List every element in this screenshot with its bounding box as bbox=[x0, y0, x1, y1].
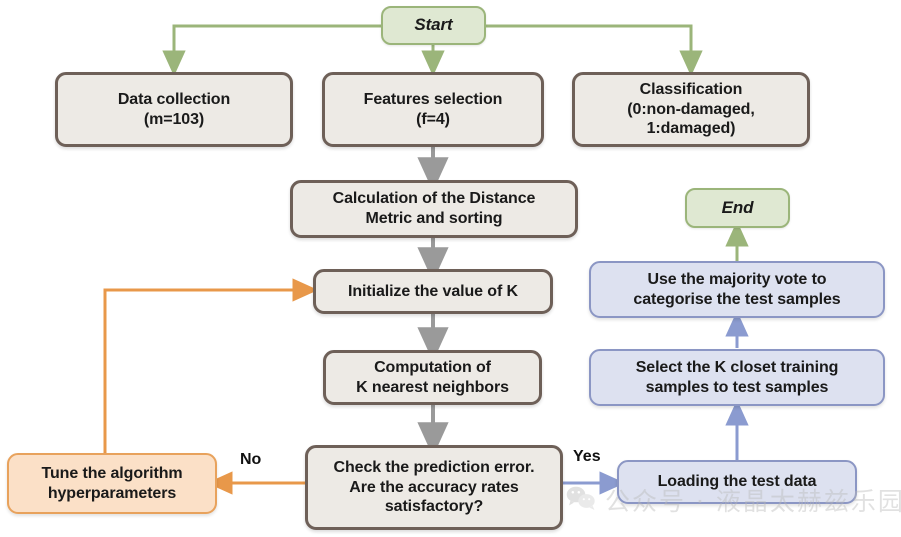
node-start[interactable]: Start bbox=[381, 6, 486, 45]
node-tune-hyperparameters[interactable]: Tune the algorithm hyperparameters bbox=[7, 453, 217, 514]
edge-label-yes: Yes bbox=[573, 448, 601, 466]
node-majority-vote-label: Use the majority vote to categorise the … bbox=[591, 270, 883, 309]
node-loading-test-data-label: Loading the test data bbox=[619, 472, 855, 492]
node-initialize-k[interactable]: Initialize the value of K bbox=[313, 269, 553, 314]
edge-label-no: No bbox=[240, 451, 261, 469]
node-computation-knn[interactable]: Computation of K nearest neighbors bbox=[323, 350, 542, 405]
node-majority-vote[interactable]: Use the majority vote to categorise the … bbox=[589, 261, 885, 318]
wechat-icon bbox=[566, 485, 596, 516]
node-data-collection[interactable]: Data collection (m=103) bbox=[55, 72, 293, 147]
edge-tune-to-initialize-k bbox=[105, 290, 308, 453]
node-start-label: Start bbox=[383, 15, 484, 36]
node-computation-knn-label: Computation of K nearest neighbors bbox=[326, 358, 539, 397]
edge-start-to-classification bbox=[486, 26, 691, 66]
node-classification-label: Classification (0:non-damaged, 1:damaged… bbox=[575, 80, 807, 139]
edge-start-to-data-collection bbox=[174, 26, 381, 66]
node-end-label: End bbox=[687, 198, 788, 219]
flowchart-canvas: Tune hyperparameters --> Loading the tes… bbox=[0, 0, 901, 537]
node-loading-test-data[interactable]: Loading the test data bbox=[617, 460, 857, 504]
node-distance-metric[interactable]: Calculation of the Distance Metric and s… bbox=[290, 180, 578, 238]
node-select-k-closest[interactable]: Select the K closet training samples to … bbox=[589, 349, 885, 406]
node-end[interactable]: End bbox=[685, 188, 790, 228]
node-features-selection[interactable]: Features selection (f=4) bbox=[322, 72, 544, 147]
node-distance-metric-label: Calculation of the Distance Metric and s… bbox=[293, 189, 575, 228]
node-classification[interactable]: Classification (0:non-damaged, 1:damaged… bbox=[572, 72, 810, 147]
node-features-selection-label: Features selection (f=4) bbox=[325, 90, 541, 129]
node-check-prediction[interactable]: Check the prediction error. Are the accu… bbox=[305, 445, 563, 530]
node-select-k-closest-label: Select the K closet training samples to … bbox=[591, 358, 883, 397]
node-check-prediction-label: Check the prediction error. Are the accu… bbox=[308, 458, 560, 517]
node-tune-hyperparameters-label: Tune the algorithm hyperparameters bbox=[9, 464, 215, 503]
node-data-collection-label: Data collection (m=103) bbox=[58, 90, 290, 129]
node-initialize-k-label: Initialize the value of K bbox=[316, 282, 550, 302]
